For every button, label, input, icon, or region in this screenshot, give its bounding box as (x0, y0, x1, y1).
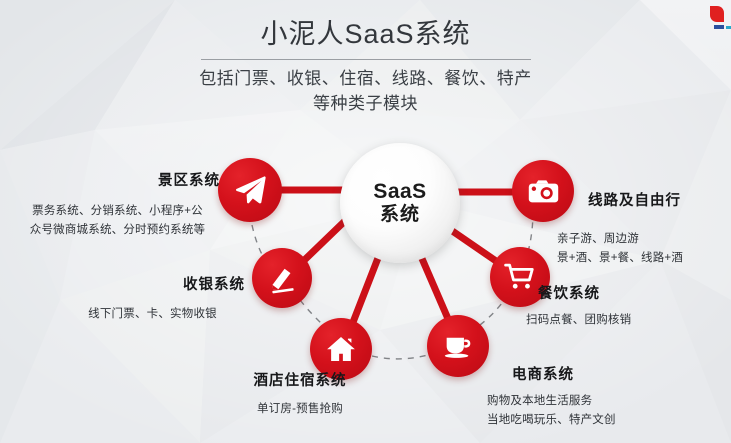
hub-saas-system[interactable]: SaaS 系统 (340, 143, 460, 263)
node-ecommerce-system[interactable] (427, 315, 489, 377)
label-cashier-system: 收银系统 (55, 276, 245, 295)
infographic-canvas: 小泥人SaaS系统 包括门票、收银、住宿、线路、餐饮、特产 等种类子模块 Saa… (0, 0, 731, 443)
hub-title-line2: 系统 (380, 204, 420, 227)
label-cashier-title: 收银系统 (55, 276, 245, 295)
label-ecommerce-system: 电商系统 (512, 366, 722, 385)
desc-hotel-line-1: 单订房-预售抢购 (195, 400, 405, 419)
label-hotel-system: 酒店住宿系统 (195, 372, 405, 391)
desc-cashier-line-1: 线下门票、卡、实物收银 (55, 305, 250, 324)
desc-catering-system: 扫码点餐、团购核销 (526, 311, 726, 330)
label-route-title: 线路及自由行 (588, 192, 728, 211)
label-catering-system: 餐饮系统 (538, 285, 728, 304)
desc-route-line-1: 亲子游、周边游 (557, 230, 731, 249)
shopping-cart-icon (504, 261, 536, 293)
desc-hotel-system: 单订房-预售抢购 (195, 400, 405, 419)
desc-ecommerce-system: 购物及本地生活服务 当地吃喝玩乐、特产文创 (487, 392, 722, 430)
camera-icon (527, 175, 560, 208)
label-catering-title: 餐饮系统 (538, 285, 728, 304)
subtitle-line-2: 等种类子模块 (0, 91, 731, 117)
label-scenic-system: 景区系统 (10, 172, 220, 191)
label-scenic-title: 景区系统 (10, 172, 220, 191)
page-title: 小泥人SaaS系统 (0, 18, 731, 52)
desc-route-system: 亲子游、周边游 景+酒、景+餐、线路+酒 (557, 230, 731, 268)
cup-icon (441, 329, 475, 363)
page-subtitle: 包括门票、收银、住宿、线路、餐饮、特产 等种类子模块 (0, 66, 731, 117)
desc-cashier-system: 线下门票、卡、实物收银 (55, 305, 250, 324)
desc-scenic-system: 票务系统、分销系统、小程序+公 众号微商城系统、分时预约系统等 (10, 202, 225, 240)
title-divider (201, 59, 531, 60)
node-route-system[interactable] (512, 160, 574, 222)
hub-title-line1: SaaS (373, 180, 426, 204)
spoke-hotel (350, 258, 378, 330)
pencil-icon (266, 262, 298, 294)
node-cashier-system[interactable] (252, 248, 312, 308)
paper-plane-icon (233, 173, 267, 207)
node-hotel-system[interactable] (310, 318, 372, 380)
node-scenic-system[interactable] (218, 158, 282, 222)
label-hotel-title: 酒店住宿系统 (195, 372, 405, 391)
desc-ecommerce-line-1: 购物及本地生活服务 (487, 392, 722, 411)
label-ecommerce-title: 电商系统 (512, 366, 722, 385)
label-route-system: 线路及自由行 (588, 192, 728, 211)
desc-scenic-line-2: 众号微商城系统、分时预约系统等 (10, 221, 225, 240)
desc-scenic-line-1: 票务系统、分销系统、小程序+公 (10, 202, 225, 221)
corner-logo-icon (687, 0, 731, 44)
home-icon (325, 333, 357, 365)
subtitle-line-1: 包括门票、收银、住宿、线路、餐饮、特产 (0, 66, 731, 92)
header: 小泥人SaaS系统 包括门票、收银、住宿、线路、餐饮、特产 等种类子模块 (0, 18, 731, 117)
desc-ecommerce-line-2: 当地吃喝玩乐、特产文创 (487, 411, 722, 430)
desc-route-line-2: 景+酒、景+餐、线路+酒 (557, 249, 731, 268)
desc-catering-line-1: 扫码点餐、团购核销 (526, 311, 726, 330)
